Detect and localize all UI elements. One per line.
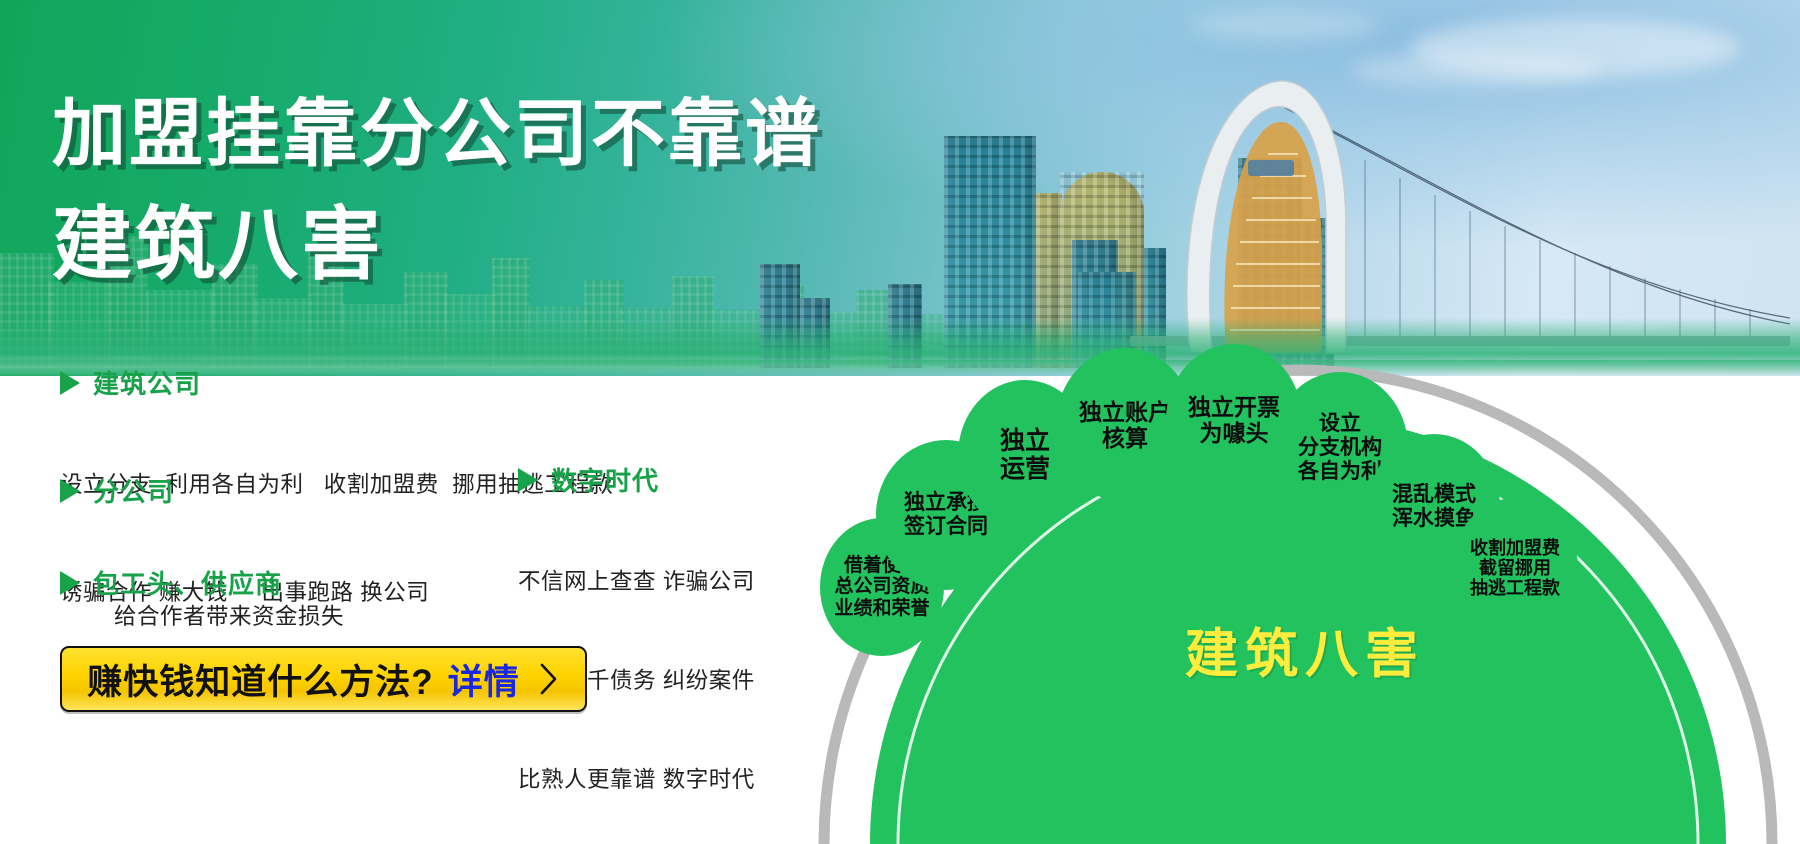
section-heading-label: 数字时代 — [551, 461, 659, 498]
hero-title-line-1: 加盟挂靠分公司不靠谱 — [52, 74, 822, 181]
triangle-bullet-icon — [518, 468, 538, 492]
cta-label: 赚快钱知道什么方法? — [87, 654, 433, 705]
section-heading-digital-era: 数字时代 — [518, 461, 659, 498]
bubble-text: 收割加盟费 截留挪用 抽逃工程款 — [1466, 538, 1564, 599]
section-heading-construction-company: 建筑公司 — [60, 364, 201, 401]
poster-root: 加盟挂靠分公司不靠谱 建筑八害 建筑公司 设立分支 利用各自为利 收割加盟费 挪… — [0, 0, 1800, 844]
section-heading-label: 建筑公司 — [93, 364, 201, 401]
section-heading-contractor-supplier: 包工头、供应商 — [60, 564, 282, 601]
triangle-bullet-icon — [60, 479, 80, 503]
hero-title-line-2: 建筑八害 — [52, 180, 384, 296]
cloud-shape — [1190, 10, 1380, 40]
bubble-text: 独立账户 核算 — [1075, 399, 1175, 451]
bubble-text: 独立开票 为噱头 — [1184, 394, 1284, 446]
section-heading-label: 分公司 — [93, 472, 174, 509]
bubble-text: 设立 分支机构 各自为利 — [1294, 412, 1386, 483]
cta-button[interactable]: 赚快钱知道什么方法? 详情 — [60, 646, 587, 712]
chevron-right-icon — [538, 661, 560, 697]
triangle-bullet-icon — [60, 371, 80, 395]
triangle-bullet-icon — [60, 571, 80, 595]
bubble-text: 独立 运营 — [996, 427, 1054, 484]
body-line: 不信网上查查 诈骗公司 — [518, 565, 755, 598]
cta-detail-link[interactable]: 详情 — [448, 654, 520, 705]
bubble-dome-diagram: 借着使用 总公司资质 业绩和荣誉 独立承揽 签订合同 独立 运营 独立账户 核算… — [810, 330, 1800, 844]
body-line: 比熟人更靠谱 数字时代 — [518, 763, 755, 796]
section-heading-label: 包工头、供应商 — [93, 564, 282, 601]
hero-banner: 加盟挂靠分公司不靠谱 建筑八害 — [0, 0, 1800, 376]
dome-label: 建筑八害 — [810, 612, 1800, 688]
section-heading-branch-company: 分公司 — [60, 472, 174, 509]
